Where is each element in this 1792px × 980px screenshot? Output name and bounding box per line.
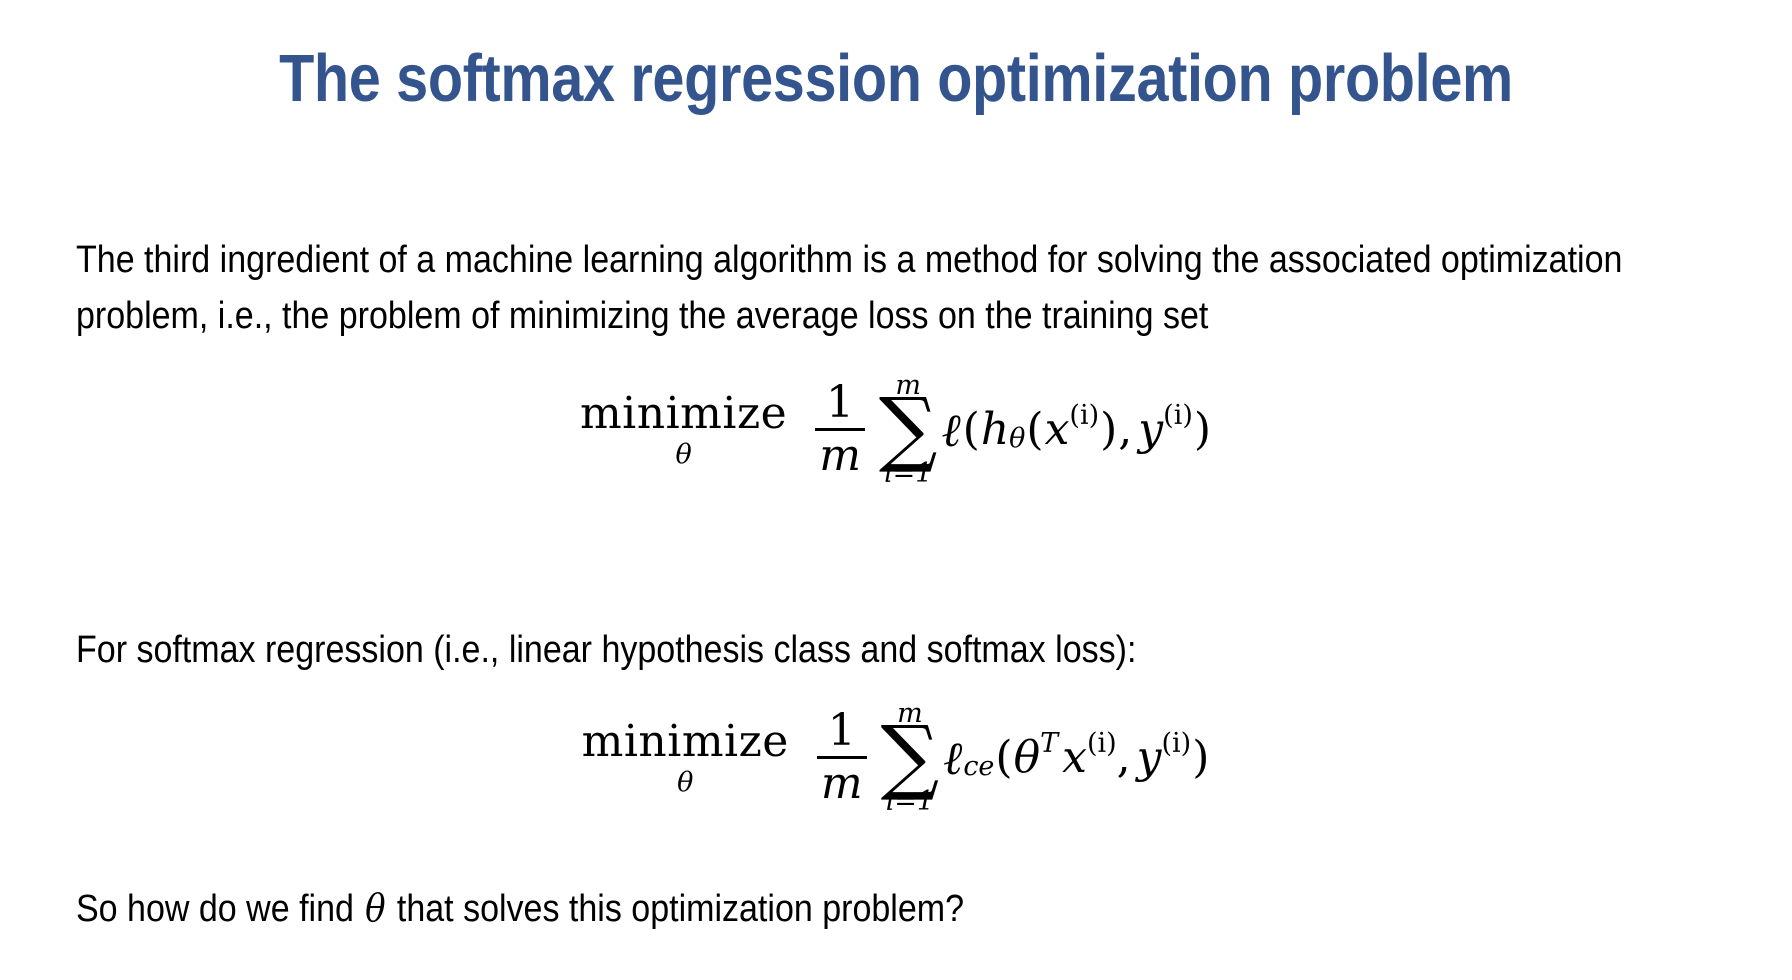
label-superscript-avg: (i)	[1163, 400, 1193, 431]
minimize-operator-word-softmax: minimize	[582, 720, 789, 764]
fraction-one-over-m-softmax: 1 m	[817, 709, 867, 806]
paragraph-intro: The third ingredient of a machine learni…	[76, 232, 1678, 344]
equation-softmax-loss-expression: minimize θ 1 m m ∑ i=1 ℓ ce ( θ T x (i) …	[582, 700, 1211, 815]
minimize-operator-avg: minimize θ	[580, 392, 787, 468]
question-text-before-theta: So how do we find	[76, 888, 363, 930]
loss-close-paren-avg: )	[1193, 404, 1212, 455]
loss-close-paren-softmax: )	[1191, 732, 1210, 783]
argument-comma-avg: ,	[1118, 404, 1138, 455]
loss-open-paren-avg: (	[962, 404, 981, 455]
summation-lower-limit-avg: i=1	[884, 460, 932, 487]
loss-subscript-softmax: ce	[963, 751, 994, 782]
slide-canvas: The softmax regression optimization prob…	[0, 0, 1792, 980]
fraction-numerator-avg: 1	[822, 381, 858, 428]
loss-open-paren-softmax: (	[994, 732, 1013, 783]
minimize-operator-subscript-avg: θ	[675, 441, 691, 468]
argument-comma-softmax: ,	[1117, 732, 1137, 783]
sigma-icon: ∑	[879, 395, 938, 462]
minimize-operator-word-avg: minimize	[580, 392, 787, 436]
input-superscript-softmax: (i)	[1087, 728, 1117, 759]
input-symbol-avg: x	[1045, 404, 1070, 455]
hypothesis-close-paren-avg: )	[1099, 404, 1118, 455]
fraction-denominator-softmax: m	[817, 759, 867, 806]
fraction-denominator-avg: m	[815, 431, 865, 478]
loss-symbol-softmax: ℓ	[943, 731, 963, 785]
summation-lower-limit-softmax: i=1	[886, 788, 934, 815]
hypothesis-symbol-avg: h	[981, 404, 1009, 455]
fraction-numerator-softmax: 1	[824, 709, 860, 756]
theta-symbol-inline: θ	[363, 886, 387, 930]
label-superscript-softmax: (i)	[1162, 728, 1192, 759]
paragraph-softmax-intro: For softmax regression (i.e., linear hyp…	[76, 622, 1678, 678]
minimize-operator-softmax: minimize θ	[582, 720, 789, 796]
label-symbol-avg: y	[1138, 404, 1163, 455]
label-symbol-softmax: y	[1137, 732, 1162, 783]
loss-symbol-avg: ℓ	[941, 403, 961, 457]
hypothesis-subscript-avg: θ	[1009, 423, 1025, 454]
minimize-operator-subscript-softmax: θ	[677, 769, 693, 796]
input-superscript-avg: (i)	[1069, 400, 1099, 431]
summation-softmax: m ∑ i=1	[881, 700, 940, 815]
hypothesis-open-paren-avg: (	[1025, 404, 1044, 455]
paragraph-question: So how do we find θ that solves this opt…	[76, 880, 1678, 937]
theta-superscript-softmax: T	[1040, 728, 1058, 759]
summation-avg: m ∑ i=1	[879, 372, 938, 487]
question-text-after-theta: that solves this optimization problem?	[387, 888, 964, 930]
equation-average-loss-expression: minimize θ 1 m m ∑ i=1 ℓ ( h θ ( x (i) )…	[580, 372, 1212, 487]
equation-average-loss: minimize θ 1 m m ∑ i=1 ℓ ( h θ ( x (i) )…	[0, 372, 1792, 487]
equation-softmax-loss: minimize θ 1 m m ∑ i=1 ℓ ce ( θ T x (i) …	[0, 700, 1792, 815]
input-symbol-softmax: x	[1058, 732, 1087, 783]
page-title: The softmax regression optimization prob…	[125, 44, 1666, 114]
fraction-one-over-m-avg: 1 m	[815, 381, 865, 478]
sigma-icon: ∑	[881, 723, 940, 790]
theta-symbol-softmax: θ	[1014, 732, 1041, 783]
